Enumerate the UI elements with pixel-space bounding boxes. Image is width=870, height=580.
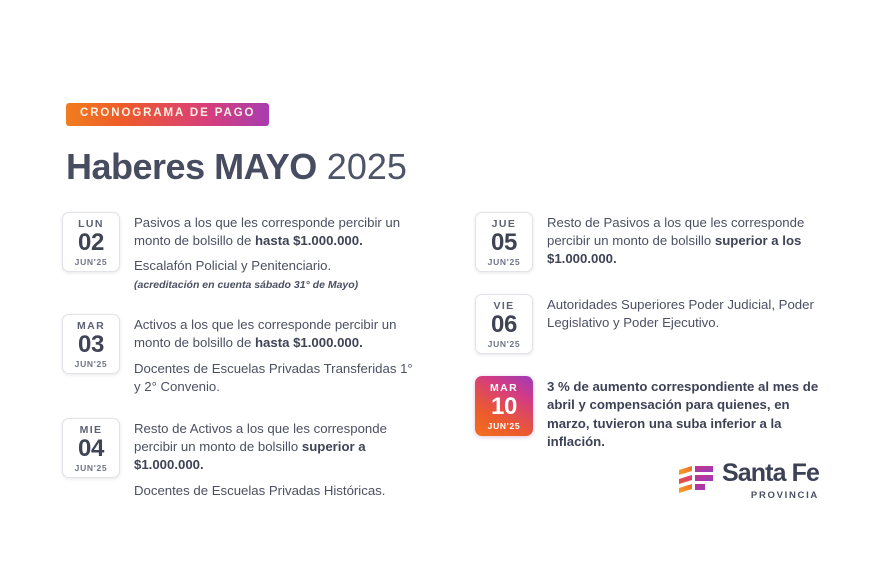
date-badge-weekday: JUE	[492, 219, 517, 230]
santa-fe-logo-icon	[679, 466, 713, 496]
date-badge: MIE04JUN'25	[62, 418, 120, 478]
date-badge-day: 03	[78, 332, 104, 359]
schedule-entry-text: 3 % de aumento correspondiente al mes de…	[547, 376, 832, 452]
page-title: Haberes MAYO 2025	[66, 148, 407, 186]
date-badge: MAR03JUN'25	[62, 314, 120, 374]
schedule-entry-text: Activos a los que les corresponde percib…	[134, 314, 419, 396]
schedule-entry-line: Activos a los que les corresponde percib…	[134, 316, 419, 352]
schedule-entry-line: Resto de Pasivos a los que les correspon…	[547, 214, 832, 269]
date-badge: VIE06JUN'25	[475, 294, 533, 354]
schedule-entry-line: Escalafón Policial y Penitenciario.	[134, 257, 419, 275]
santa-fe-logo: Santa Fe PROVINCIA	[679, 460, 819, 501]
schedule-entry-text: Resto de Pasivos a los que les correspon…	[547, 212, 832, 269]
schedule-entry-line: Autoridades Superiores Poder Judicial, P…	[547, 296, 832, 332]
schedule-entry: MIE04JUN'25Resto de Activos a los que le…	[62, 418, 419, 500]
schedule-entry-line: 3 % de aumento correspondiente al mes de…	[547, 378, 832, 452]
schedule-entry: MAR10JUN'253 % de aumento correspondient…	[475, 376, 832, 452]
page-header: CRONOGRAMA DE PAGO Haberes MAYO 2025	[66, 103, 407, 185]
date-badge-month: JUN'25	[75, 360, 108, 369]
schedule-badge: CRONOGRAMA DE PAGO	[66, 103, 269, 126]
date-badge-month: JUN'25	[488, 258, 521, 267]
date-badge-weekday: MIE	[80, 425, 103, 436]
date-badge: LUN02JUN'25	[62, 212, 120, 272]
schedule-entry-line: Docentes de Escuelas Privadas Transferid…	[134, 360, 419, 396]
logo-subtitle: PROVINCIA	[722, 490, 819, 501]
schedule-entry-text: Pasivos a los que les corresponde percib…	[134, 212, 419, 292]
date-badge-month: JUN'25	[75, 464, 108, 473]
schedule-entry-line: Resto de Activos a los que les correspon…	[134, 420, 419, 475]
date-badge-day: 04	[78, 436, 104, 463]
schedule-entry-emphasis: hasta $1.000.000.	[255, 233, 363, 248]
schedule-entry-fragment: Docentes de Escuelas Privadas Históricas…	[134, 483, 385, 498]
schedule-entry-emphasis: hasta $1.000.000.	[255, 335, 363, 350]
santa-fe-logo-text: Santa Fe PROVINCIA	[722, 460, 819, 501]
date-badge-weekday: MAR	[490, 383, 518, 394]
date-badge: JUE05JUN'25	[475, 212, 533, 272]
page-title-bold: Haberes MAYO	[66, 146, 317, 187]
schedule-entry-text: Resto de Activos a los que les correspon…	[134, 418, 419, 500]
schedule-entry-fragment: 3 % de aumento correspondiente al mes de…	[547, 379, 818, 449]
logo-name: Santa Fe	[722, 461, 819, 486]
date-badge-month: JUN'25	[488, 340, 521, 349]
date-badge-month: JUN'25	[75, 258, 108, 267]
schedule-entry-fragment: Escalafón Policial y Penitenciario.	[134, 258, 331, 273]
schedule-entry-note: (acreditación en cuenta sábado 31° de Ma…	[134, 278, 419, 292]
schedule-entry-fragment: Autoridades Superiores Poder Judicial, P…	[547, 297, 814, 330]
date-badge-weekday: MAR	[77, 321, 105, 332]
schedule-entry-text: Autoridades Superiores Poder Judicial, P…	[547, 294, 832, 332]
schedule-entry: VIE06JUN'25Autoridades Superiores Poder …	[475, 294, 832, 354]
date-badge: MAR10JUN'25	[475, 376, 533, 436]
date-badge-weekday: LUN	[78, 219, 104, 230]
date-badge-month: JUN'25	[488, 422, 521, 431]
schedule-entry-line: Pasivos a los que les corresponde percib…	[134, 214, 419, 250]
schedule-column-left: LUN02JUN'25Pasivos a los que les corresp…	[62, 212, 419, 522]
page-title-year: 2025	[327, 146, 407, 187]
schedule-entry-line: Docentes de Escuelas Privadas Históricas…	[134, 482, 419, 500]
date-badge-weekday: VIE	[493, 301, 514, 312]
schedule-entry: JUE05JUN'25Resto de Pasivos a los que le…	[475, 212, 832, 272]
date-badge-day: 06	[491, 312, 517, 339]
schedule-entry: LUN02JUN'25Pasivos a los que les corresp…	[62, 212, 419, 292]
schedule-entry: MAR03JUN'25Activos a los que les corresp…	[62, 314, 419, 396]
schedule-entry-fragment: Docentes de Escuelas Privadas Transferid…	[134, 361, 413, 394]
date-badge-day: 02	[78, 230, 104, 257]
date-badge-day: 05	[491, 230, 517, 257]
date-badge-day: 10	[491, 394, 517, 421]
payment-schedule-page: CRONOGRAMA DE PAGO Haberes MAYO 2025 LUN…	[0, 0, 870, 580]
